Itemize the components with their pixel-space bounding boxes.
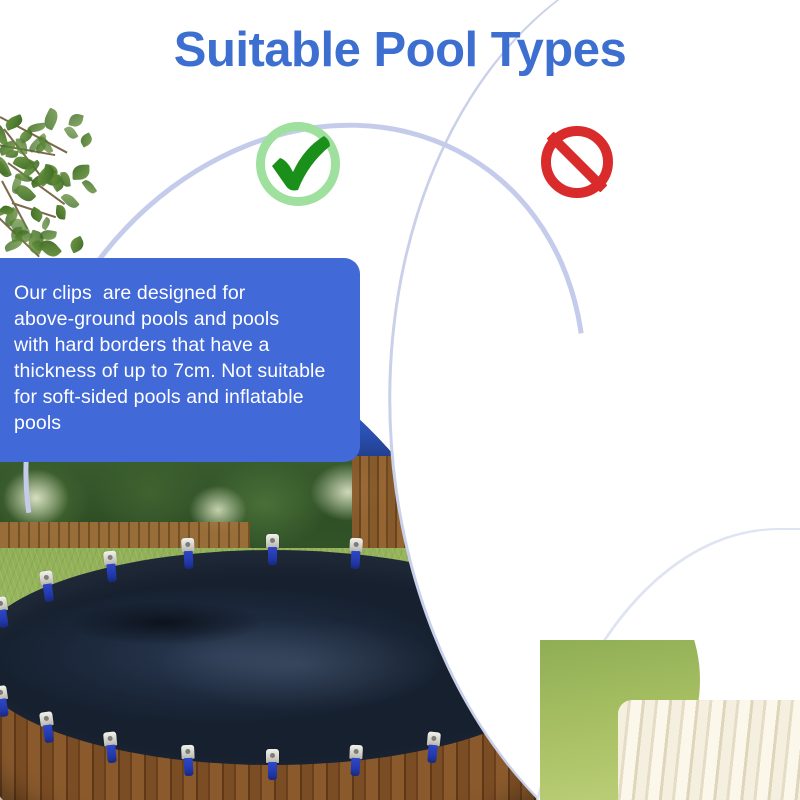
branch-leaf — [55, 205, 67, 220]
clip-head — [266, 534, 279, 548]
page-title: Suitable Pool Types — [0, 22, 800, 78]
pool-cover-clip — [266, 749, 279, 779]
callout-text: Our clips are designed for above-ground … — [14, 280, 342, 436]
clip-body — [184, 551, 194, 569]
cover-sheen — [160, 620, 440, 710]
cream-fabric-folds — [618, 700, 800, 800]
pool-cover-clip — [181, 744, 195, 775]
clip-body — [268, 547, 277, 565]
clip-head — [349, 744, 363, 759]
clip-body — [427, 744, 438, 763]
clip-body — [43, 724, 54, 743]
branch-leaf — [78, 133, 94, 148]
infographic-canvas: Suitable Pool Types Our clips are design… — [0, 0, 800, 800]
clip-body — [43, 583, 54, 602]
branch-leaf — [0, 154, 12, 179]
clip-head — [266, 749, 279, 763]
tree-branch — [0, 110, 124, 250]
branch-leaf — [82, 178, 98, 196]
pool-cover-clip — [181, 538, 195, 569]
pool-cover-clip — [349, 538, 363, 569]
clip-body — [351, 757, 361, 775]
branch-leaf — [73, 165, 90, 180]
branch-leaf — [63, 124, 78, 141]
clip-body — [268, 762, 277, 780]
clip-body — [0, 698, 8, 717]
pool-cover-clip — [425, 731, 441, 762]
clip-body — [107, 564, 118, 583]
check-mark-glyph — [260, 124, 344, 208]
pool-cover-clip — [349, 744, 363, 775]
clip-body — [0, 609, 8, 628]
red-prohibition-icon — [541, 126, 613, 198]
branch-leaf — [68, 113, 83, 128]
clip-head — [181, 744, 195, 759]
cream-fabric — [618, 700, 800, 800]
pool-cover-clip — [266, 534, 279, 564]
branch-leaf — [68, 235, 87, 253]
clip-body — [107, 744, 118, 763]
callout-box: Our clips are designed for above-ground … — [0, 258, 360, 462]
clip-body — [184, 757, 194, 775]
green-check-icon — [256, 122, 340, 206]
clip-body — [351, 551, 361, 569]
